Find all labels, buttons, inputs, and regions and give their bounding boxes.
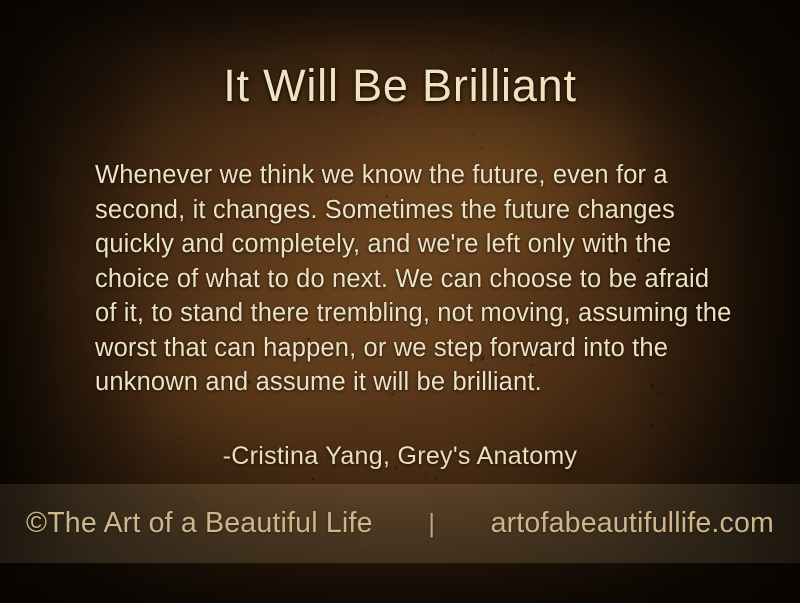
- quote-attribution: -Cristina Yang, Grey's Anatomy: [0, 441, 800, 471]
- quote-line: Whenever we think we know the future, ev…: [95, 158, 745, 193]
- quote-line: quickly and completely, and we're left o…: [95, 227, 745, 262]
- quote-line: choice of what to do next. We can choose…: [95, 262, 745, 297]
- footer-website-url: artofabeautifullife.com: [491, 507, 774, 540]
- quote-line: of it, to stand there trembling, not mov…: [95, 296, 745, 331]
- footer-watermark-band: ©The Art of a Beautiful Life | artofabea…: [0, 484, 800, 563]
- page-title: It Will Be Brilliant: [0, 63, 800, 108]
- quote-line: second, it changes. Sometimes the future…: [95, 193, 745, 228]
- quote-line: unknown and assume it will be brilliant.: [95, 365, 745, 400]
- quote-text: Whenever we think we know the future, ev…: [95, 158, 745, 400]
- footer-separator: |: [424, 508, 439, 539]
- quote-line: worst that can happen, or we step forwar…: [95, 331, 745, 366]
- poster-content: It Will Be Brilliant Whenever we think w…: [0, 0, 800, 603]
- quote-poster: It Will Be Brilliant Whenever we think w…: [0, 0, 800, 603]
- footer-content: ©The Art of a Beautiful Life | artofabea…: [26, 507, 774, 540]
- footer-brand-label: ©The Art of a Beautiful Life: [26, 507, 373, 540]
